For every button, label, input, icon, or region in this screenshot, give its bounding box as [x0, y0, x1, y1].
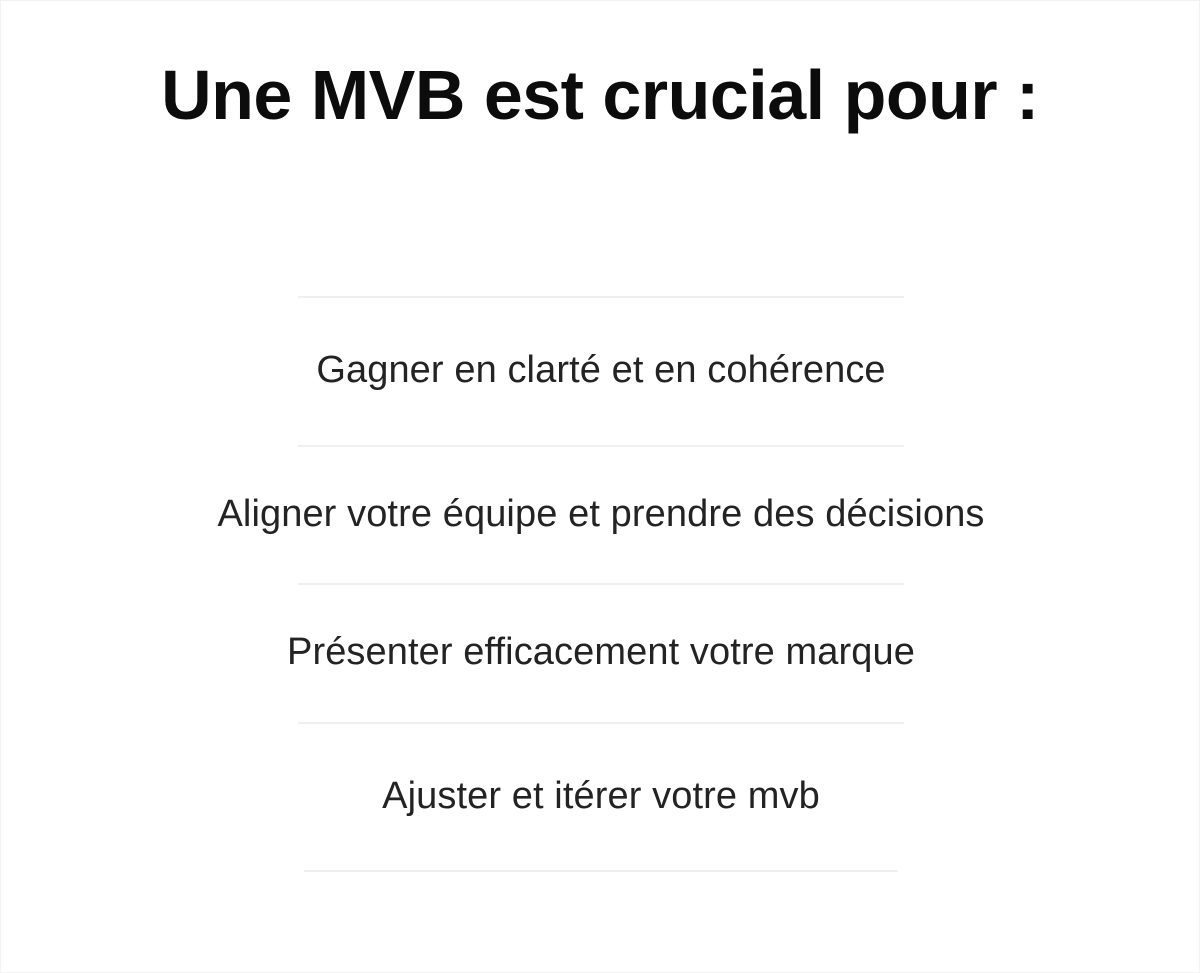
list-item: Ajuster et itérer votre mvb — [1, 724, 1200, 871]
list-divider-bottom — [304, 870, 898, 872]
slide-canvas: Une MVB est crucial pour : Gagner en cla… — [0, 0, 1200, 973]
list-item: Présenter efficacement votre marque — [1, 585, 1200, 722]
page-title: Une MVB est crucial pour : — [1, 60, 1199, 130]
list-item: Gagner en clarté et en cohérence — [1, 298, 1200, 445]
list-item: Aligner votre équipe et prendre des déci… — [1, 447, 1200, 584]
benefits-list: Gagner en clarté et en cohérence Aligner… — [1, 296, 1200, 872]
